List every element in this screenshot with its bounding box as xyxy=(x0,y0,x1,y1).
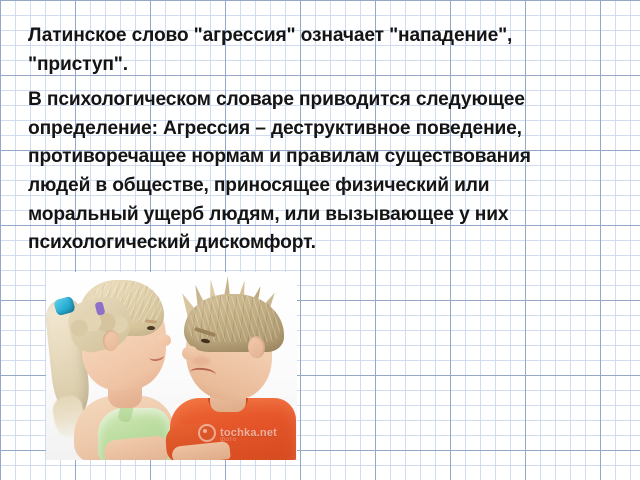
paragraph-definition-latin: Латинское слово "агрессия" означает "нап… xyxy=(28,22,548,79)
boy-figure xyxy=(164,272,297,460)
paragraph-definition-psychological: В психологическом словаре приводится сле… xyxy=(28,86,548,258)
slide-text-block: Латинское слово "агрессия" означает "нап… xyxy=(28,22,548,261)
boy-nose xyxy=(182,346,197,360)
boy-hair-strands xyxy=(188,296,280,342)
children-conflict-photo: tochka.net фото xyxy=(46,272,297,460)
slide-canvas: Латинское слово "агрессия" означает "нап… xyxy=(0,0,640,480)
boy-ear xyxy=(248,336,265,358)
girl-figure xyxy=(46,272,178,460)
girl-eye xyxy=(147,326,155,330)
